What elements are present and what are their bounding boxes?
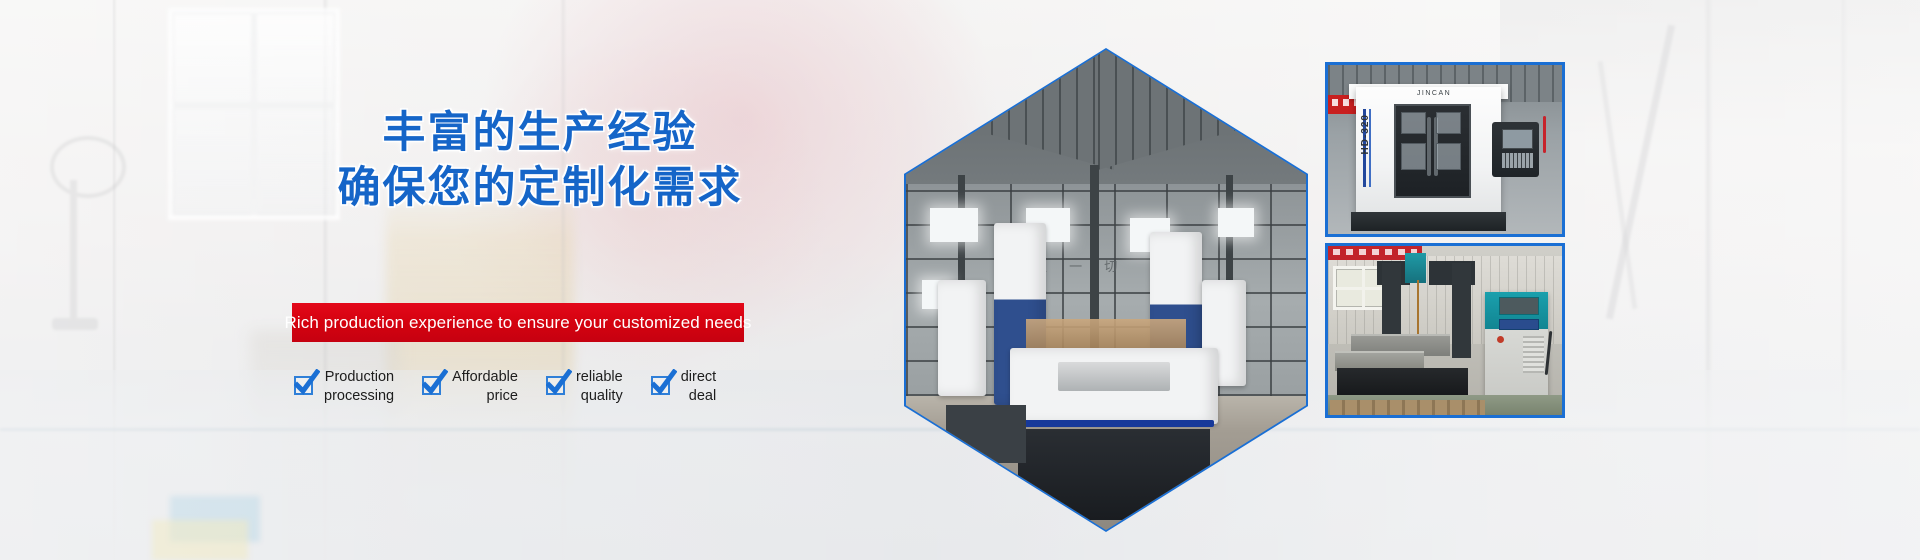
- headline-line-2: 确保您的定制化需求: [330, 161, 750, 216]
- edm-machine-photo: [1328, 246, 1562, 415]
- checkbox-checked-icon: [546, 376, 565, 395]
- page-title: 丰富的生产经验 确保您的定制化需求: [330, 106, 750, 216]
- feature-label-line-2: quality: [576, 387, 623, 406]
- feature-label-line-1: reliable: [576, 369, 623, 385]
- feature-item-direct-deal[interactable]: direct deal: [651, 368, 716, 405]
- machine-model-label: HD-320: [1360, 114, 1371, 154]
- feature-label-line-1: Production: [325, 369, 394, 385]
- cnc-machine-photo: HD-320 JINCAN: [1328, 65, 1562, 234]
- feature-label: Production processing: [324, 368, 394, 405]
- thumbnail-edm-machine[interactable]: [1325, 243, 1565, 418]
- checkbox-checked-icon: [651, 376, 670, 395]
- wall-text: 定 一 切: [1034, 256, 1126, 275]
- feature-label: reliable quality: [576, 368, 623, 405]
- feature-item-affordable-price[interactable]: Affordable price: [422, 368, 518, 405]
- machine-brand-label: JINCAN: [1417, 90, 1451, 97]
- thumbnail-cnc-machine[interactable]: HD-320 JINCAN: [1325, 62, 1565, 237]
- workshop-photo: 定 一 切: [906, 50, 1306, 530]
- feature-list: Production processing Affordable price: [294, 368, 716, 405]
- subtitle-text: Rich production experience to ensure you…: [285, 313, 752, 333]
- feature-item-production-processing[interactable]: Production processing: [294, 368, 394, 405]
- subtitle-banner: Rich production experience to ensure you…: [292, 303, 744, 342]
- hero-hexagon-image[interactable]: 定 一 切: [904, 48, 1308, 532]
- feature-item-reliable-quality[interactable]: reliable quality: [546, 368, 623, 405]
- hexagon-photo-clip: 定 一 切: [906, 50, 1306, 530]
- checkbox-checked-icon: [422, 376, 441, 395]
- feature-label-line-1: direct: [681, 369, 716, 385]
- banner-text-block: 丰富的生产经验 确保您的定制化需求 Rich production experi…: [0, 0, 960, 560]
- feature-label-line-1: Affordable: [452, 369, 518, 385]
- feature-label-line-2: processing: [324, 387, 394, 406]
- feature-label-line-2: deal: [681, 387, 716, 406]
- checkbox-checked-icon: [294, 376, 313, 395]
- headline-line-1: 丰富的生产经验: [383, 108, 698, 158]
- hero-banner: 丰富的生产经验 确保您的定制化需求 Rich production experi…: [0, 0, 1920, 560]
- feature-label-line-2: price: [452, 387, 518, 406]
- feature-label: Affordable price: [452, 368, 518, 405]
- feature-label: direct deal: [681, 368, 716, 405]
